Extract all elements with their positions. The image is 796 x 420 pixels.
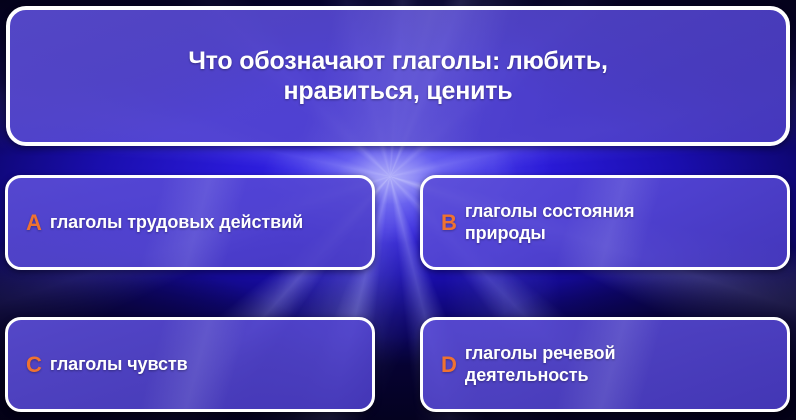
answer-a-letter: A bbox=[26, 210, 42, 236]
answer-b-content: B глаголы состояния природы bbox=[441, 201, 634, 243]
answer-c-letter: C bbox=[26, 352, 42, 378]
answer-option-d[interactable]: D глаголы речевой деятельность bbox=[420, 317, 790, 412]
question-panel: Что обозначают глаголы: любить, нравитьс… bbox=[6, 6, 790, 146]
answer-option-a[interactable]: A глаголы трудовых действий bbox=[5, 175, 375, 270]
answer-option-c[interactable]: C глаголы чувств bbox=[5, 317, 375, 412]
question-line-1: Что обозначают глаголы: любить, bbox=[188, 47, 607, 75]
answer-c-label: глаголы чувств bbox=[50, 354, 188, 375]
answer-d-label: глаголы речевой деятельность bbox=[465, 343, 616, 385]
quiz-screen: Что обозначают глаголы: любить, нравитьс… bbox=[0, 0, 796, 420]
question-text: Что обозначают глаголы: любить, нравитьс… bbox=[148, 46, 647, 107]
answer-c-content: C глаголы чувств bbox=[26, 352, 188, 378]
question-line-2: нравиться, ценить bbox=[284, 77, 513, 105]
answer-b-line-2: природы bbox=[465, 223, 546, 243]
answer-c-line-1: глаголы чувств bbox=[50, 354, 188, 374]
answer-d-content: D глаголы речевой деятельность bbox=[441, 343, 615, 385]
answer-d-line-2: деятельность bbox=[465, 365, 589, 385]
answer-b-letter: B bbox=[441, 210, 457, 236]
answer-b-label: глаголы состояния природы bbox=[465, 201, 634, 243]
answer-a-label: глаголы трудовых действий bbox=[50, 212, 303, 233]
answer-option-b[interactable]: B глаголы состояния природы bbox=[420, 175, 790, 270]
answer-b-line-1: глаголы состояния bbox=[465, 201, 634, 221]
answer-a-line-1: глаголы трудовых действий bbox=[50, 212, 303, 232]
answer-d-line-1: глаголы речевой bbox=[465, 343, 616, 363]
answer-a-content: A глаголы трудовых действий bbox=[26, 210, 303, 236]
answer-d-letter: D bbox=[441, 352, 457, 378]
